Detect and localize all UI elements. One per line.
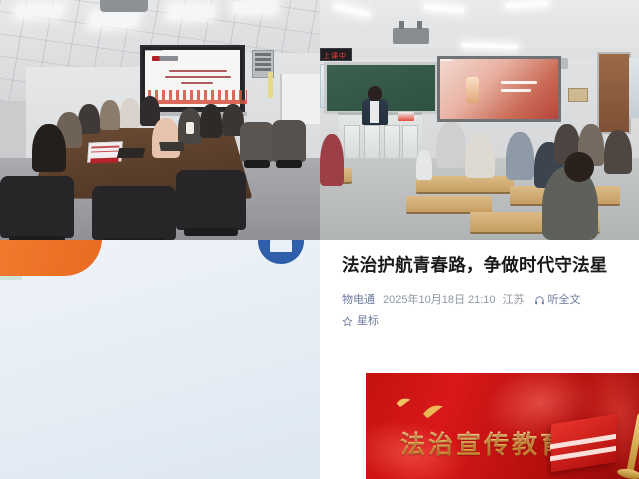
article-meta: 物电通 2025年10月18日 21:10 江苏 听全文 [342, 290, 632, 332]
student [465, 134, 495, 178]
article-cover-banner[interactable]: 法治宣传教育 [366, 373, 639, 479]
whiteboard [280, 74, 320, 124]
student-desk [406, 196, 492, 212]
ceiling-light [16, 6, 62, 16]
attendee [32, 124, 66, 172]
banner-title: 法治宣传教育 [400, 425, 568, 461]
star-label: 星标 [357, 311, 379, 332]
listen-full-text-button[interactable]: 听全文 [534, 290, 581, 311]
slide-logo [152, 56, 178, 61]
listen-label: 听全文 [548, 290, 581, 311]
article-date: 2025年10月18日 21:10 [383, 290, 496, 311]
photo-classroom[interactable]: 上课中 [320, 0, 639, 240]
slide-title-line-2 [501, 89, 531, 92]
article-meta-row-2: 星标 [342, 311, 632, 332]
ceiling-light [169, 6, 213, 18]
student [320, 134, 344, 186]
dove-icon [422, 404, 444, 419]
noticeboard-scene: TRONIC ENGINEERING 通知公告 [0, 240, 320, 479]
office-chair [92, 186, 176, 240]
student [506, 132, 534, 180]
ceiling-light [235, 2, 276, 12]
classroom-door [597, 52, 631, 134]
led-display: 上课中 [320, 48, 352, 61]
office-chair [0, 176, 74, 238]
ceiling [320, 0, 639, 62]
student-head [564, 152, 594, 182]
slide-figure-graphic [466, 77, 479, 103]
student [604, 130, 632, 174]
wall-cabinet [568, 88, 588, 102]
orange-header-shape: TRONIC ENGINEERING [0, 240, 102, 276]
ceiling-light [90, 14, 137, 26]
dove-icon [396, 397, 412, 409]
teacher [362, 99, 388, 125]
screenshot-canvas: 上课中 [0, 0, 639, 479]
classroom-scene: 上课中 [320, 0, 639, 240]
slide-text-line [145, 50, 163, 51]
star-outline-icon [342, 316, 353, 327]
office-chair [240, 122, 274, 162]
ceiling-projector [393, 28, 429, 44]
podium-item [398, 112, 414, 121]
slide-text-line [181, 82, 213, 84]
slide-skyline-graphic [148, 90, 247, 104]
projected-slide [145, 50, 240, 107]
laptop [117, 148, 145, 158]
projected-slide [440, 59, 558, 119]
led-text: 上课中 [323, 51, 347, 61]
article-meta-row-1: 物电通 2025年10月18日 21:10 江苏 听全文 [342, 290, 632, 311]
window [629, 58, 639, 118]
photo-noticeboard[interactable]: TRONIC ENGINEERING 通知公告 [0, 240, 320, 479]
meeting-room-scene [0, 0, 320, 240]
teacher-head [368, 86, 382, 101]
attendee [100, 100, 120, 130]
office-chair [272, 120, 306, 162]
ceiling-projector [100, 0, 148, 12]
student [416, 150, 432, 180]
attendee [120, 98, 140, 128]
article-location: 江苏 [503, 290, 525, 311]
board-header-english: TRONIC ENGINEERING [0, 240, 101, 242]
article-title: 法治护航青春路，争做时代守法星 [342, 254, 624, 278]
slide-title-line-1 [501, 81, 537, 84]
slide-text-line [169, 70, 227, 72]
office-chair [176, 170, 246, 230]
blue-logo-icon [258, 240, 304, 264]
projection-screen [437, 56, 561, 122]
headphones-icon [534, 295, 545, 306]
wall-strip [268, 72, 273, 98]
water-bottle [186, 122, 194, 134]
article-author[interactable]: 物电通 [342, 290, 375, 311]
photo-meeting-room[interactable] [0, 0, 320, 240]
slide-text-line [440, 59, 452, 61]
star-button[interactable]: 星标 [342, 311, 379, 332]
attendee [152, 118, 180, 158]
article-content: 法治护航青春路，争做时代守法星 物电通 2025年10月18日 21:10 江苏… [320, 240, 639, 479]
student [436, 122, 466, 168]
laptop [159, 142, 185, 151]
article-panel: 法治护航青春路，争做时代守法星 物电通 2025年10月18日 21:10 江苏… [320, 240, 639, 479]
attendee [200, 104, 222, 138]
slide-text-line [165, 76, 231, 78]
